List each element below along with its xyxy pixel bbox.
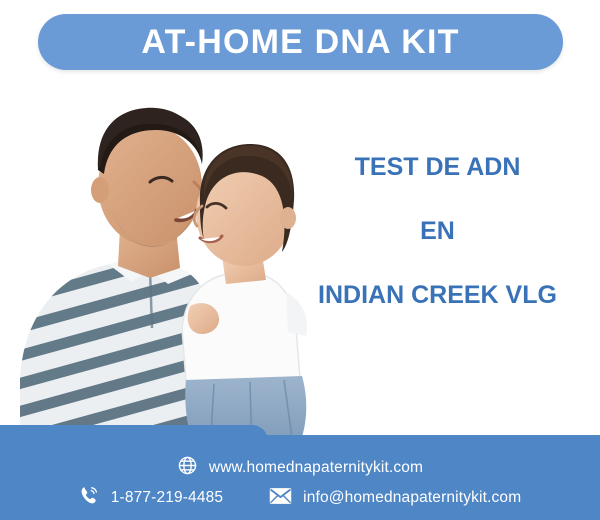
title-banner: AT-HOME DNA KIT <box>38 14 563 70</box>
footer-website-row: www.homednapaternitykit.com <box>0 455 600 481</box>
headline-line-3: INDIAN CREEK VLG <box>310 283 565 308</box>
headline-line-1: TEST DE ADN <box>310 155 565 180</box>
website-text[interactable]: www.homednapaternitykit.com <box>209 459 423 477</box>
phone-contact[interactable]: 1-877-219-4485 <box>79 485 223 511</box>
family-photo <box>0 78 340 450</box>
phone-icon <box>79 485 100 511</box>
email-text[interactable]: info@homednapaternitykit.com <box>303 489 521 507</box>
headline-line-2: EN <box>310 219 565 244</box>
email-contact[interactable]: info@homednapaternitykit.com <box>269 487 521 510</box>
family-photo-illustration <box>0 78 340 450</box>
footer-contact-row: 1-877-219-4485 info@homednapaternitykit.… <box>0 485 600 511</box>
poster-title: AT-HOME DNA KIT <box>141 25 459 59</box>
envelope-icon <box>269 487 292 510</box>
poster-canvas: AT-HOME DNA KIT <box>0 0 600 520</box>
phone-text[interactable]: 1-877-219-4485 <box>111 489 223 507</box>
globe-icon <box>177 455 198 481</box>
website-contact[interactable]: www.homednapaternitykit.com <box>177 455 423 481</box>
headline-block: TEST DE ADN EN INDIAN CREEK VLG <box>310 155 565 308</box>
